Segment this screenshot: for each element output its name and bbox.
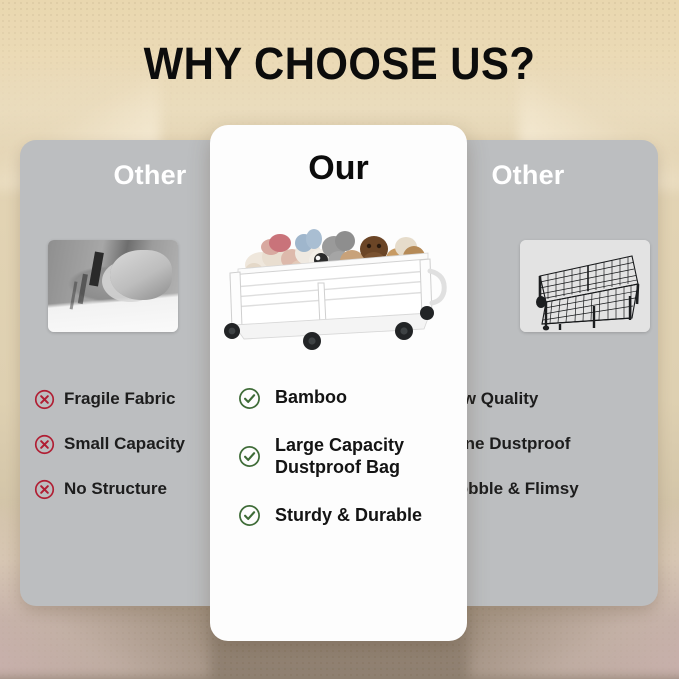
list-item-label: Fragile Fabric <box>64 389 175 409</box>
list-item-label-line1: Large Capacity <box>275 435 404 455</box>
our-card: Our <box>210 125 467 641</box>
list-item-label-multiline: Large Capacity Dustproof Bag <box>275 435 404 479</box>
infographic-canvas: WHY CHOOSE US? Other Fragile Fabric <box>0 0 679 679</box>
check-icon <box>238 504 261 527</box>
list-item: Sturdy & Durable <box>238 501 463 531</box>
our-heading: Our <box>210 149 467 188</box>
list-item-label-line2: Dustproof Bag <box>275 457 400 477</box>
list-item: Large Capacity Dustproof Bag <box>238 435 463 479</box>
list-item-label: Bamboo <box>275 387 347 409</box>
black-wire-basket-photo <box>520 240 650 332</box>
fabric-zipper-photo <box>48 240 178 332</box>
list-item: Bamboo <box>238 383 463 413</box>
handle <box>430 271 444 303</box>
cross-icon <box>34 389 55 410</box>
check-icon <box>238 445 261 468</box>
list-item-label: Sturdy & Durable <box>275 505 422 527</box>
wire-basket-drawing <box>520 240 650 332</box>
other-left-image <box>48 240 178 332</box>
our-feature-list: Bamboo Large Capacity Dustproof Bag Stur… <box>238 383 463 553</box>
check-icon <box>238 387 261 410</box>
page-title: WHY CHOOSE US? <box>24 38 655 90</box>
rolling-storage-box-with-plush-toys <box>214 213 464 363</box>
other-right-image <box>520 240 650 332</box>
cross-icon <box>34 434 55 455</box>
list-item-label: No Structure <box>64 479 167 499</box>
cross-icon <box>34 479 55 500</box>
list-item-label: Small Capacity <box>64 434 185 454</box>
